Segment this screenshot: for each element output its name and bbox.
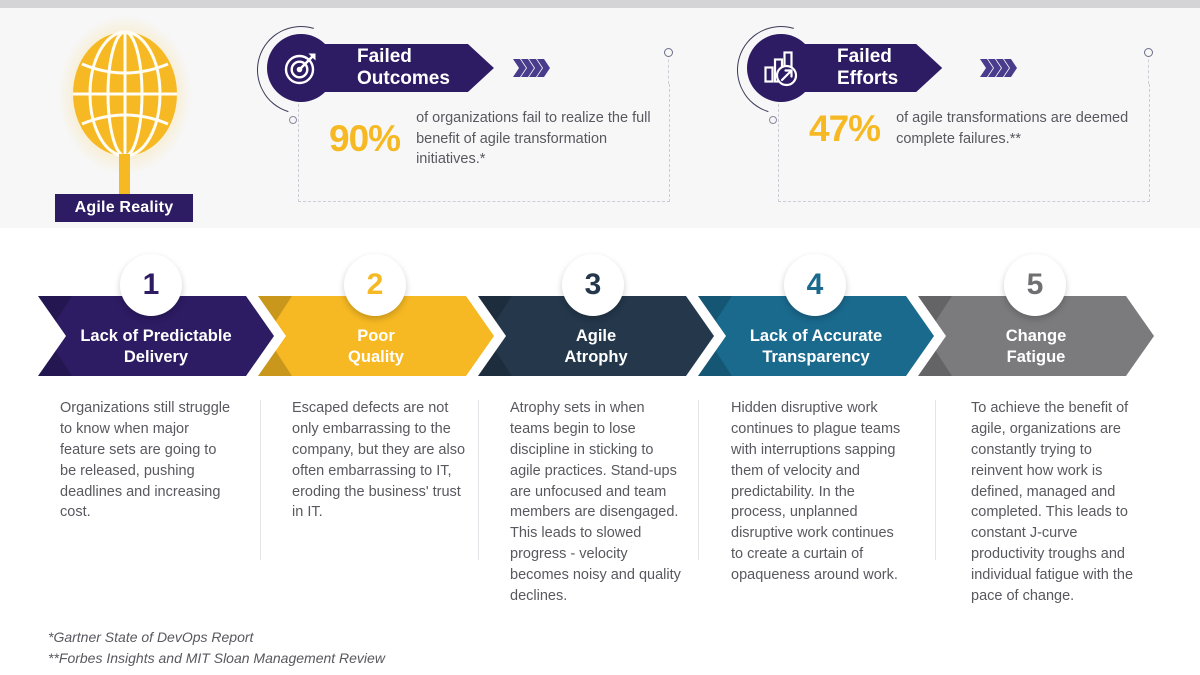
ribbon-icon-circle	[267, 34, 335, 102]
stat-percent: 90%	[329, 120, 400, 157]
bar-chart-growth-icon	[761, 48, 801, 88]
steps-chevron-row: Lack of Predictable Delivery 1 Poor Qual…	[0, 296, 1200, 376]
step-body: Organizations still struggle to know whe…	[60, 398, 235, 523]
agile-reality-hero: Agile Reality	[45, 14, 205, 214]
step-description-2: Escaped defects are not only embarrassin…	[292, 398, 467, 523]
step-body: Escaped defects are not only embarrassin…	[292, 398, 467, 523]
step-body: Hidden disruptive work continues to plag…	[731, 398, 906, 586]
stat-dashed-box: 90% of organizations fail to realize the…	[298, 84, 670, 202]
stat-dashed-box: 47% of agile transformations are deemed …	[778, 84, 1150, 202]
step-description-5: To achieve the benefit of agile, organiz…	[971, 398, 1146, 607]
step-number: 4	[807, 268, 824, 302]
step-number: 5	[1027, 268, 1044, 302]
agile-reality-badge: Agile Reality	[55, 194, 193, 222]
top-strip	[0, 0, 1200, 8]
globe-icon	[72, 30, 178, 158]
step-description-3: Atrophy sets in when teams begin to lose…	[510, 398, 685, 607]
step-number-badge-2: 2	[344, 254, 406, 316]
step-number: 1	[143, 268, 160, 302]
ribbon-tail-chevrons	[980, 59, 1020, 77]
step-number-badge-4: 4	[784, 254, 846, 316]
column-divider	[478, 400, 479, 560]
stat-row: 90% of organizations fail to realize the…	[329, 108, 666, 170]
ribbon-arc-dot	[289, 116, 297, 124]
ribbon-tail-chevrons	[513, 59, 553, 77]
dashed-connector	[1148, 54, 1149, 84]
target-icon	[281, 48, 321, 88]
column-divider	[935, 400, 936, 560]
step-body: To achieve the benefit of agile, organiz…	[971, 398, 1146, 607]
agile-reality-label: Agile Reality	[75, 199, 174, 217]
stat-description: of organizations fail to realize the ful…	[416, 108, 666, 170]
dashed-box-dot	[1144, 48, 1153, 57]
globe-stem	[119, 154, 130, 196]
step-number: 3	[585, 268, 602, 302]
ribbon-label: Failed Efforts	[837, 46, 898, 90]
infographic-canvas: Agile Reality Failed Outcomes	[0, 0, 1200, 675]
stat-row: 47% of agile transformations are deemed …	[809, 108, 1146, 149]
dashed-box-dot	[664, 48, 673, 57]
column-divider	[698, 400, 699, 560]
step-number: 2	[367, 268, 384, 302]
step-description-4: Hidden disruptive work continues to plag…	[731, 398, 906, 586]
column-divider	[260, 400, 261, 560]
ribbon-icon-circle	[747, 34, 815, 102]
footnote-1: *Gartner State of DevOps Report	[48, 627, 385, 648]
steps-description-row: Organizations still struggle to know whe…	[0, 398, 1200, 613]
ribbon-arc-dot	[769, 116, 777, 124]
dashed-connector	[668, 54, 669, 84]
footnote-2: **Forbes Insights and MIT Sloan Manageme…	[48, 648, 385, 669]
step-description-1: Organizations still struggle to know whe…	[60, 398, 235, 523]
step-body: Atrophy sets in when teams begin to lose…	[510, 398, 685, 607]
stat-description: of agile transformations are deemed comp…	[896, 108, 1146, 149]
ribbon-label: Failed Outcomes	[357, 46, 450, 90]
stat-percent: 47%	[809, 110, 880, 147]
step-number-badge-3: 3	[562, 254, 624, 316]
step-number-badge-5: 5	[1004, 254, 1066, 316]
footnotes: *Gartner State of DevOps Report **Forbes…	[48, 627, 385, 669]
step-number-badge-1: 1	[120, 254, 182, 316]
